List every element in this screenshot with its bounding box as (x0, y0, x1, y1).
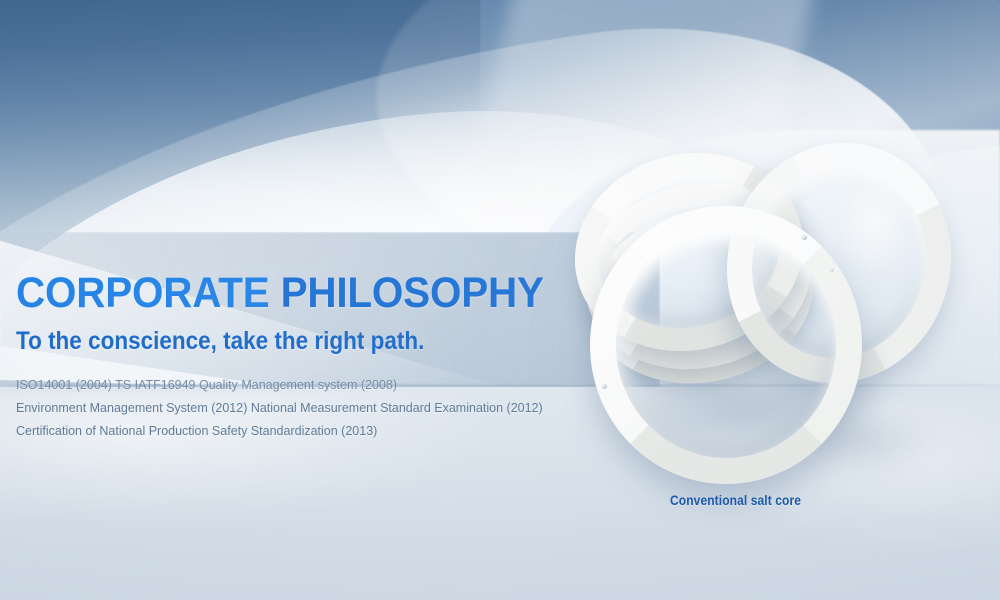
product-caption: Conventional salt core (670, 492, 801, 508)
page-title: CORPORATE PHILOSOPHY (16, 272, 599, 315)
certification-list: ISO14001 (2004) TS IATF16949 Quality Man… (16, 374, 636, 443)
page-title-word-corporate: CORPORATE (16, 269, 270, 317)
ring-pinhole-icon (802, 235, 807, 240)
page-subtitle: To the conscience, take the right path. (16, 329, 574, 354)
ring-pinhole-icon (830, 268, 834, 272)
certification-item: ISO14001 (2004) TS IATF16949 Quality Man… (16, 374, 636, 397)
certification-item: Certification of National Production Saf… (16, 420, 636, 443)
philosophy-text-block: CORPORATE PHILOSOPHY To the conscience, … (16, 272, 636, 443)
certification-item: Environment Management System (2012) Nat… (16, 397, 636, 420)
page-title-word-philosophy: PHILOSOPHY (281, 269, 544, 317)
corporate-philosophy-banner: CORPORATE PHILOSOPHY To the conscience, … (0, 0, 1000, 600)
